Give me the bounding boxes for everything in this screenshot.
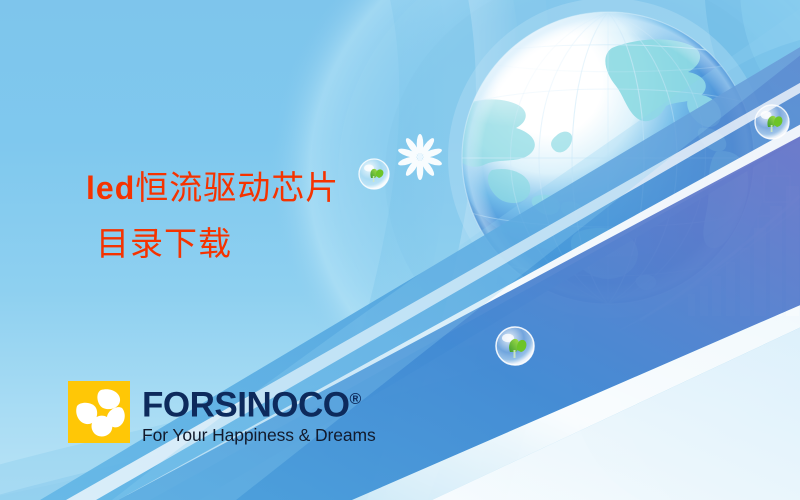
logo-wordmark: FORSINOCO® — [142, 382, 376, 424]
bubble-with-green-leaves-right — [755, 105, 789, 139]
headline-line-2: 目录下载 — [96, 217, 418, 273]
forsinoco-logo[interactable]: FORSINOCO® For Your Happiness & Dreams — [68, 381, 376, 445]
logo-wordmark-text: FORSINOCO — [142, 386, 349, 425]
headline-line-1-cjk: 恒流驱动芯片 — [135, 171, 339, 207]
bubble-with-green-leaves-bottom — [496, 327, 534, 365]
logo-text-block: FORSINOCO® For Your Happiness & Dreams — [142, 381, 376, 445]
forsinoco-pinwheel-mark — [68, 381, 130, 443]
headline-line-1-latin: led — [86, 170, 135, 206]
headline-block: led恒流驱动芯片 目录下载 — [78, 160, 418, 273]
registered-trademark-symbol: ® — [349, 391, 361, 408]
logo-tagline: For Your Happiness & Dreams — [142, 425, 376, 445]
promo-banner: led恒流驱动芯片 目录下载 FORSINOCO® For Your Happi… — [0, 0, 800, 500]
pinwheel-petals-icon — [68, 381, 130, 443]
headline-line-1: led恒流驱动芯片 — [86, 160, 418, 217]
